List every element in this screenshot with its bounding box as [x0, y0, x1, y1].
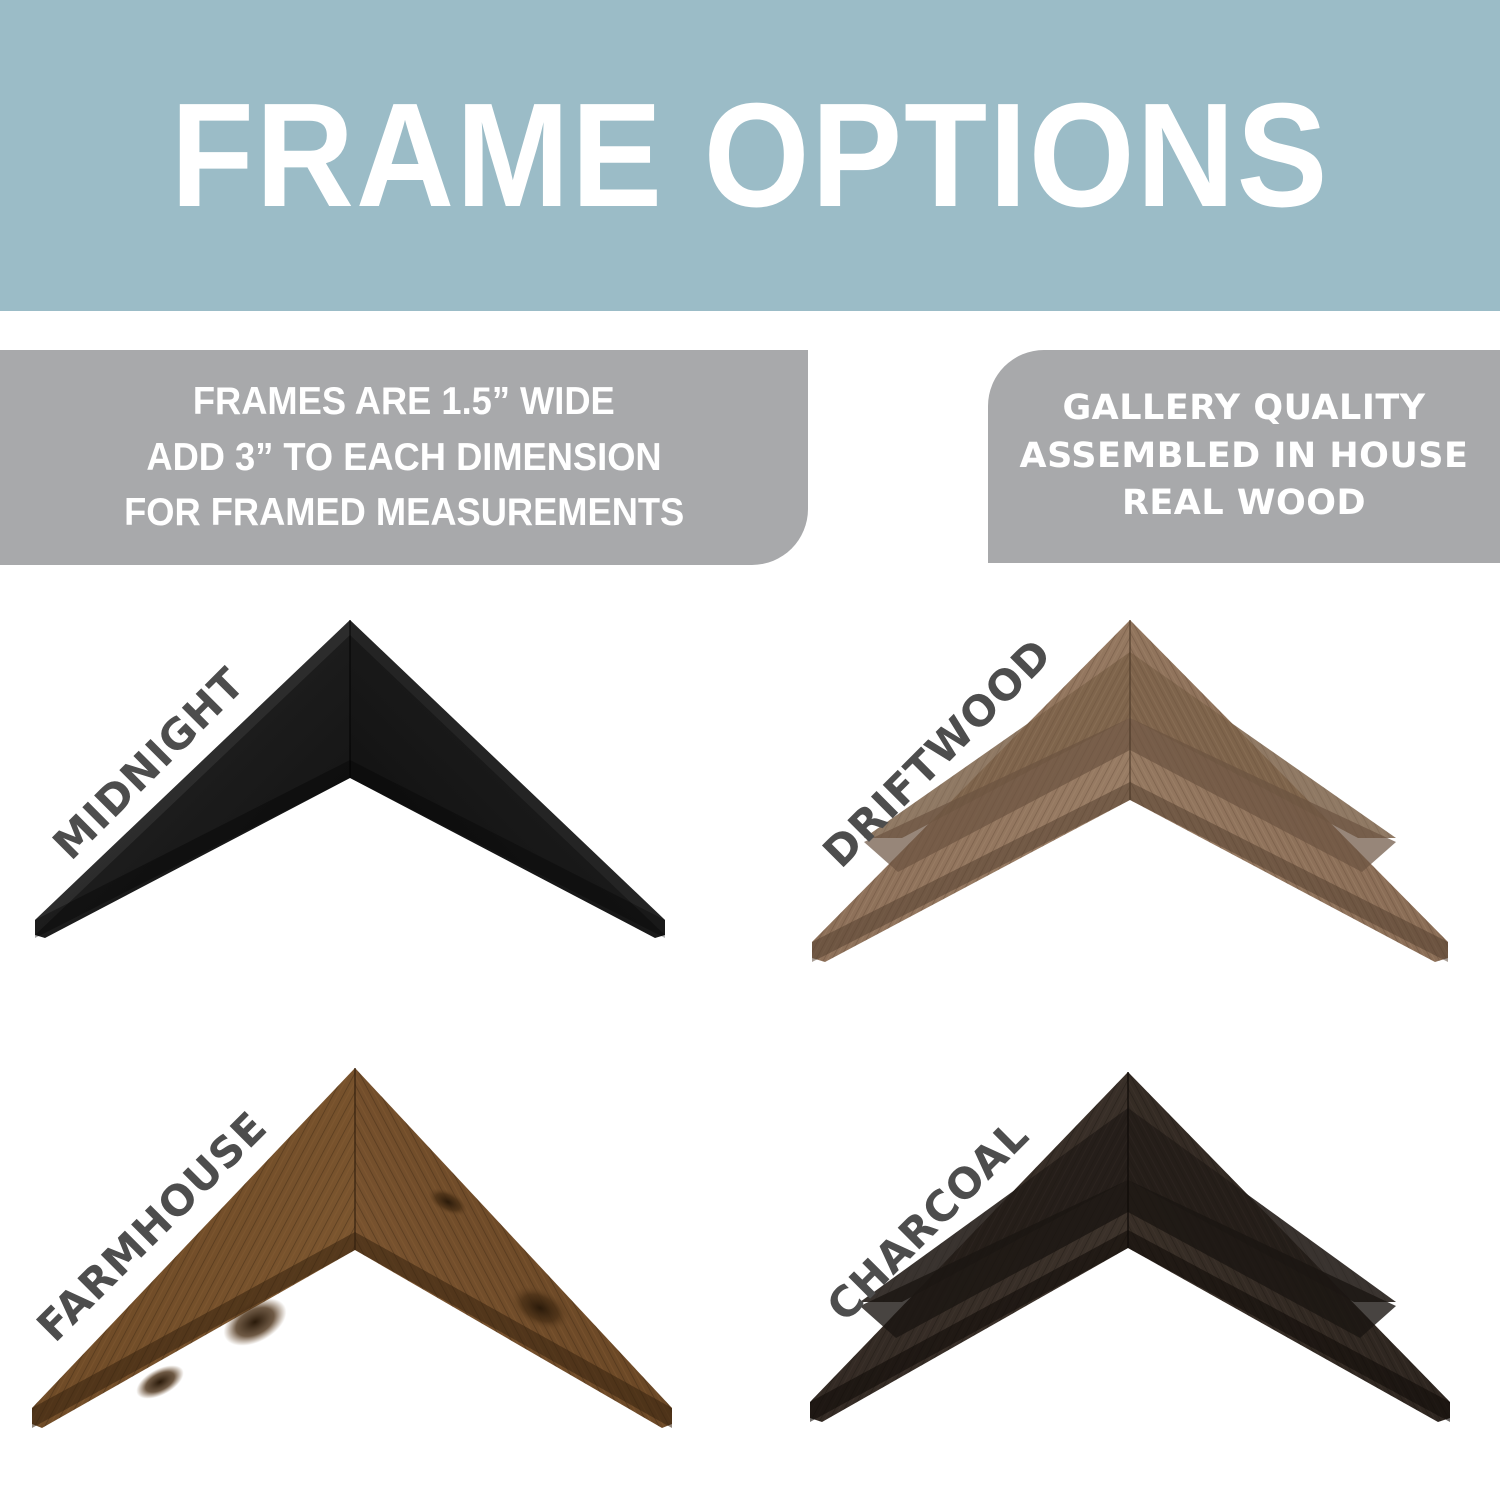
info-left-line-3: FOR FRAMED MEASUREMENTS	[124, 485, 684, 540]
info-left-line-2: ADD 3” TO EACH DIMENSION	[146, 430, 661, 485]
info-right-line-3: REAL WOOD	[1122, 480, 1366, 528]
info-right-line-1: GALLERY QUALITY	[1062, 385, 1425, 433]
page-title: FRAME OPTIONS	[60, 0, 1440, 311]
header-banner: FRAME OPTIONS	[0, 0, 1500, 311]
info-box-measurements: FRAMES ARE 1.5” WIDE ADD 3” TO EACH DIME…	[0, 350, 808, 565]
info-box-quality: GALLERY QUALITY ASSEMBLED IN HOUSE REAL …	[988, 350, 1500, 563]
info-right-line-2: ASSEMBLED IN HOUSE	[1020, 433, 1469, 481]
info-left-line-1: FRAMES ARE 1.5” WIDE	[193, 374, 615, 429]
